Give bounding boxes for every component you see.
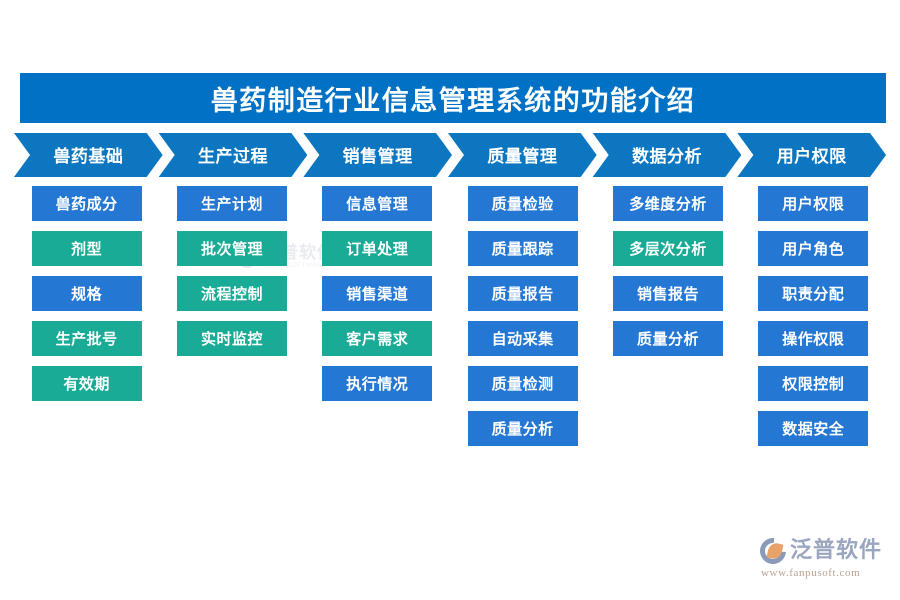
- feature-item[interactable]: 信息管理: [322, 186, 432, 221]
- feature-item[interactable]: 职责分配: [758, 276, 868, 311]
- feature-item[interactable]: 数据安全: [758, 411, 868, 446]
- stage-label: 销售管理: [343, 142, 413, 167]
- feature-item[interactable]: 质量检测: [468, 366, 578, 401]
- brand-url: www.fanpusoft.com: [761, 567, 860, 579]
- diagram-canvas: 泛普软件 FANPU SOFTWARE 兽药制造行业信息管理系统的功能介绍 兽药…: [0, 0, 900, 600]
- feature-item[interactable]: 操作权限: [758, 321, 868, 356]
- stage-label: 质量管理: [487, 142, 557, 167]
- feature-item[interactable]: 客户需求: [322, 321, 432, 356]
- fanpu-logo-icon: [760, 538, 786, 564]
- stage-header-band: 兽药基础 生产过程 销售管理 质量管理 数据分析 用户权限: [14, 133, 886, 177]
- feature-item[interactable]: 质量分析: [468, 411, 578, 446]
- page-title-bar: 兽药制造行业信息管理系统的功能介绍: [20, 73, 886, 123]
- feature-item[interactable]: 实时监控: [177, 321, 287, 356]
- feature-columns: 兽药成分 剂型 规格 生产批号 有效期 生产计划 批次管理 流程控制 实时监控 …: [14, 186, 886, 486]
- feature-item[interactable]: 权限控制: [758, 366, 868, 401]
- stage-label: 用户权限: [777, 142, 847, 167]
- feature-item[interactable]: 流程控制: [177, 276, 287, 311]
- feature-item[interactable]: 销售渠道: [322, 276, 432, 311]
- brand-name: 泛普软件: [790, 540, 882, 562]
- feature-item[interactable]: 质量报告: [468, 276, 578, 311]
- feature-item[interactable]: 用户权限: [758, 186, 868, 221]
- feature-item[interactable]: 剂型: [32, 231, 142, 266]
- stage-chevron-veterinary-drug-basics[interactable]: 兽药基础: [14, 133, 163, 177]
- stage-label: 数据分析: [632, 142, 702, 167]
- feature-column-user-permissions: 用户权限 用户角色 职责分配 操作权限 权限控制 数据安全: [741, 186, 886, 486]
- feature-item[interactable]: 批次管理: [177, 231, 287, 266]
- feature-item[interactable]: 兽药成分: [32, 186, 142, 221]
- feature-item[interactable]: 质量跟踪: [468, 231, 578, 266]
- stage-chevron-production-process[interactable]: 生产过程: [159, 133, 308, 177]
- feature-item[interactable]: 自动采集: [468, 321, 578, 356]
- feature-item[interactable]: 有效期: [32, 366, 142, 401]
- feature-column-quality-management: 质量检验 质量跟踪 质量报告 自动采集 质量检测 质量分析: [450, 186, 595, 486]
- stage-chevron-quality-management[interactable]: 质量管理: [448, 133, 597, 177]
- stage-label: 生产过程: [198, 142, 268, 167]
- feature-column-data-analysis: 多维度分析 多层次分析 销售报告 质量分析: [595, 186, 740, 486]
- stage-chevron-sales-management[interactable]: 销售管理: [303, 133, 452, 177]
- stage-chevron-data-analysis[interactable]: 数据分析: [593, 133, 742, 177]
- feature-column-production-process: 生产计划 批次管理 流程控制 实时监控: [159, 186, 304, 486]
- feature-item[interactable]: 用户角色: [758, 231, 868, 266]
- feature-item[interactable]: 质量分析: [613, 321, 723, 356]
- feature-item[interactable]: 质量检验: [468, 186, 578, 221]
- feature-item[interactable]: 订单处理: [322, 231, 432, 266]
- stage-chevron-user-permissions[interactable]: 用户权限: [737, 133, 886, 177]
- feature-item[interactable]: 生产计划: [177, 186, 287, 221]
- feature-column-sales-management: 信息管理 订单处理 销售渠道 客户需求 执行情况: [305, 186, 450, 486]
- feature-item[interactable]: 生产批号: [32, 321, 142, 356]
- feature-item[interactable]: 多维度分析: [613, 186, 723, 221]
- feature-column-veterinary-drug-basics: 兽药成分 剂型 规格 生产批号 有效期: [14, 186, 159, 486]
- stage-label: 兽药基础: [53, 142, 123, 167]
- feature-item[interactable]: 执行情况: [322, 366, 432, 401]
- feature-item[interactable]: 规格: [32, 276, 142, 311]
- brand-logo-row: 泛普软件: [760, 538, 882, 564]
- feature-item[interactable]: 多层次分析: [613, 231, 723, 266]
- page-title: 兽药制造行业信息管理系统的功能介绍: [211, 79, 696, 118]
- feature-item[interactable]: 销售报告: [613, 276, 723, 311]
- brand-logo: 泛普软件 www.fanpusoft.com: [760, 538, 890, 586]
